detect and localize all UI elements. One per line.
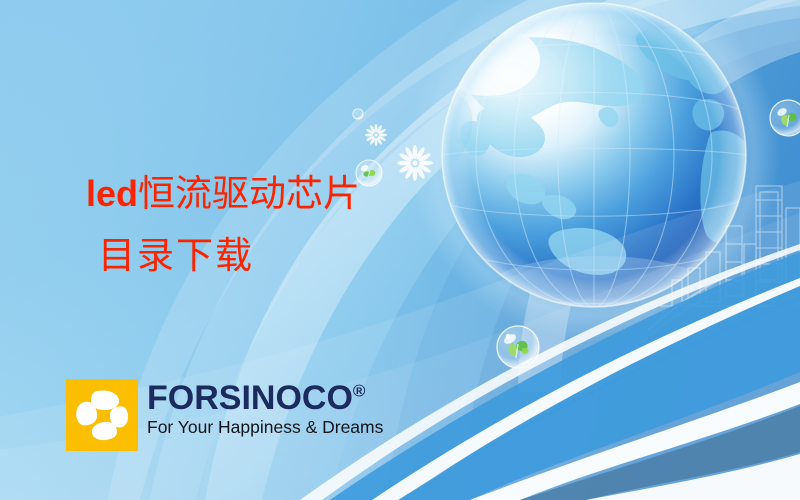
logo-wordmark-text: FORSINOCO (147, 379, 353, 417)
logo-wordmark: FORSINOCO® (147, 381, 365, 415)
pinwheel-flower-icon (66, 379, 138, 451)
registered-trademark-icon: ® (353, 382, 366, 401)
company-logo: FORSINOCO® For Your Happiness & Dreams (66, 379, 383, 451)
logo-tagline: For Your Happiness & Dreams (147, 417, 383, 437)
logo-mark (66, 379, 138, 451)
banner-image: led恒流驱动芯片 目录下载 FORSINOCO® For (0, 0, 800, 500)
logo-text-block: FORSINOCO® For Your Happiness & Dreams (147, 379, 383, 437)
